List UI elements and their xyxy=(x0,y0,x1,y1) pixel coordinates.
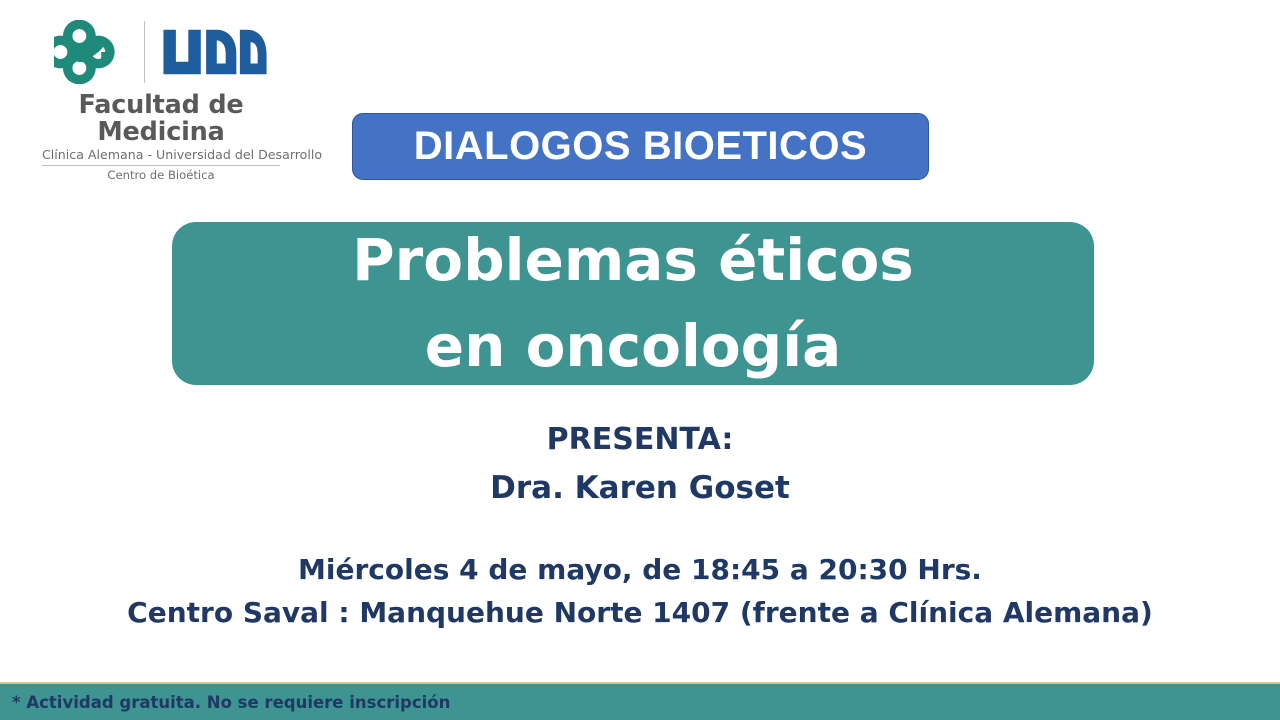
institutions-line: Clínica Alemana - Universidad del Desarr… xyxy=(42,147,280,162)
event-datetime: Miércoles 4 de mayo, de 18:45 a 20:30 Hr… xyxy=(0,548,1280,591)
footer-bar: * Actividad gratuita. No se requiere ins… xyxy=(0,682,1280,720)
footer-note-text: * Actividad gratuita. No se requiere ins… xyxy=(0,693,450,712)
presenter-block: PRESENTA: Dra. Karen Goset xyxy=(0,418,1280,514)
udd-wordmark-icon xyxy=(161,28,269,76)
center-name: Centro de Bioética xyxy=(42,168,280,182)
clinica-alemana-clover-icon xyxy=(54,20,128,84)
series-title-banner: DIALOGOS BIOETICOS xyxy=(352,113,929,180)
logo-rule xyxy=(42,165,280,166)
faculty-name: Facultad de Medicina xyxy=(42,92,280,146)
event-title-text: Problemas éticos en oncología xyxy=(313,218,953,390)
presenter-label: PRESENTA: xyxy=(0,418,1280,462)
event-venue: Centro Saval : Manquehue Norte 1407 (fre… xyxy=(0,591,1280,634)
logo-marks-row xyxy=(42,16,280,88)
logo-divider xyxy=(144,21,145,83)
event-details-block: Miércoles 4 de mayo, de 18:45 a 20:30 Hr… xyxy=(0,548,1280,635)
bioethics-dialogues-flyer: { "logo": { "clover_icon": "clinica-alem… xyxy=(0,0,1280,720)
series-title-text: DIALOGOS BIOETICOS xyxy=(414,124,867,169)
event-title-box: Problemas éticos en oncología xyxy=(172,222,1094,385)
institution-logo-block: Facultad de Medicina Clínica Alemana - U… xyxy=(42,16,280,182)
presenter-name: Dra. Karen Goset xyxy=(0,462,1280,515)
